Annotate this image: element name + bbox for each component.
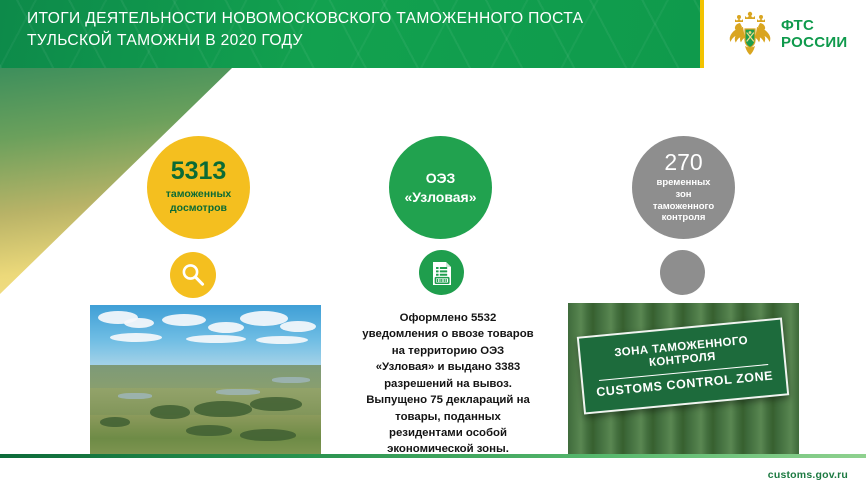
fts-logo-text: ФТС РОССИИ: [781, 18, 848, 52]
sign-text-english: CUSTOMS CONTROL ZONE: [596, 369, 774, 400]
magnifier-icon: [178, 260, 208, 290]
landscape-cloud: [280, 321, 316, 332]
magnifier-icon-badge: [170, 252, 216, 298]
russian-double-headed-eagle-emblem: [727, 10, 773, 60]
landscape-cloud: [256, 336, 308, 344]
landscape-treeline: [150, 405, 190, 419]
landscape-cloud: [162, 314, 206, 326]
blank-circle-icon-badge: [660, 250, 705, 295]
stat-label-customs-inspections: таможенных досмотров: [166, 188, 232, 215]
aerial-landscape-photo: [90, 305, 321, 454]
landscape-cloud: [186, 335, 246, 343]
page-title: ИТОГИ ДЕЯТЕЛЬНОСТИ НОВОМОСКОВСКОГО ТАМОЖ…: [27, 8, 667, 51]
stat-label-temporary-control-zones: временных зон таможенного контроля: [653, 177, 714, 224]
stat-value-temporary-control-zones: 270: [664, 151, 702, 174]
footer-gradient-rule: [0, 454, 866, 458]
header-accent-stripe: [700, 0, 704, 68]
document-form-icon: [428, 258, 456, 288]
fts-logo: ФТС РОССИИ: [727, 9, 857, 61]
landscape-treeline: [240, 429, 296, 441]
landscape-cloud: [110, 333, 162, 342]
stat-value-customs-inspections: 5313: [171, 159, 227, 184]
landscape-water: [118, 393, 152, 399]
landscape-cloud: [124, 318, 154, 328]
landscape-cloud: [208, 322, 244, 333]
landscape-treeline: [194, 401, 252, 417]
customs-control-zone-sign-photo: ЗОНА ТАМОЖЕННОГО КОНТРОЛЯ CUSTOMS CONTRO…: [568, 303, 799, 455]
document-form-icon-badge: [419, 250, 464, 295]
landscape-water: [216, 389, 260, 395]
stat-circle-customs-inspections: 5313 таможенных досмотров: [147, 136, 250, 239]
center-description-text: Оформлено 5532 уведомления о ввозе товар…: [348, 310, 548, 458]
stat-circle-sez-uzlovaya: ОЭЗ «Узловая»: [389, 136, 492, 239]
slide-canvas: ИТОГИ ДЕЯТЕЛЬНОСТИ НОВОМОСКОВСКОГО ТАМОЖ…: [0, 0, 866, 487]
stat-value-sez-uzlovaya: ОЭЗ «Узловая»: [405, 169, 477, 207]
landscape-water: [272, 377, 310, 383]
stat-circle-temporary-control-zones: 270 временных зон таможенного контроля: [632, 136, 735, 239]
footer-url: customs.gov.ru: [768, 469, 848, 481]
landscape-treeline: [186, 425, 232, 436]
landscape-treeline: [250, 397, 302, 411]
landscape-treeline: [100, 417, 130, 427]
